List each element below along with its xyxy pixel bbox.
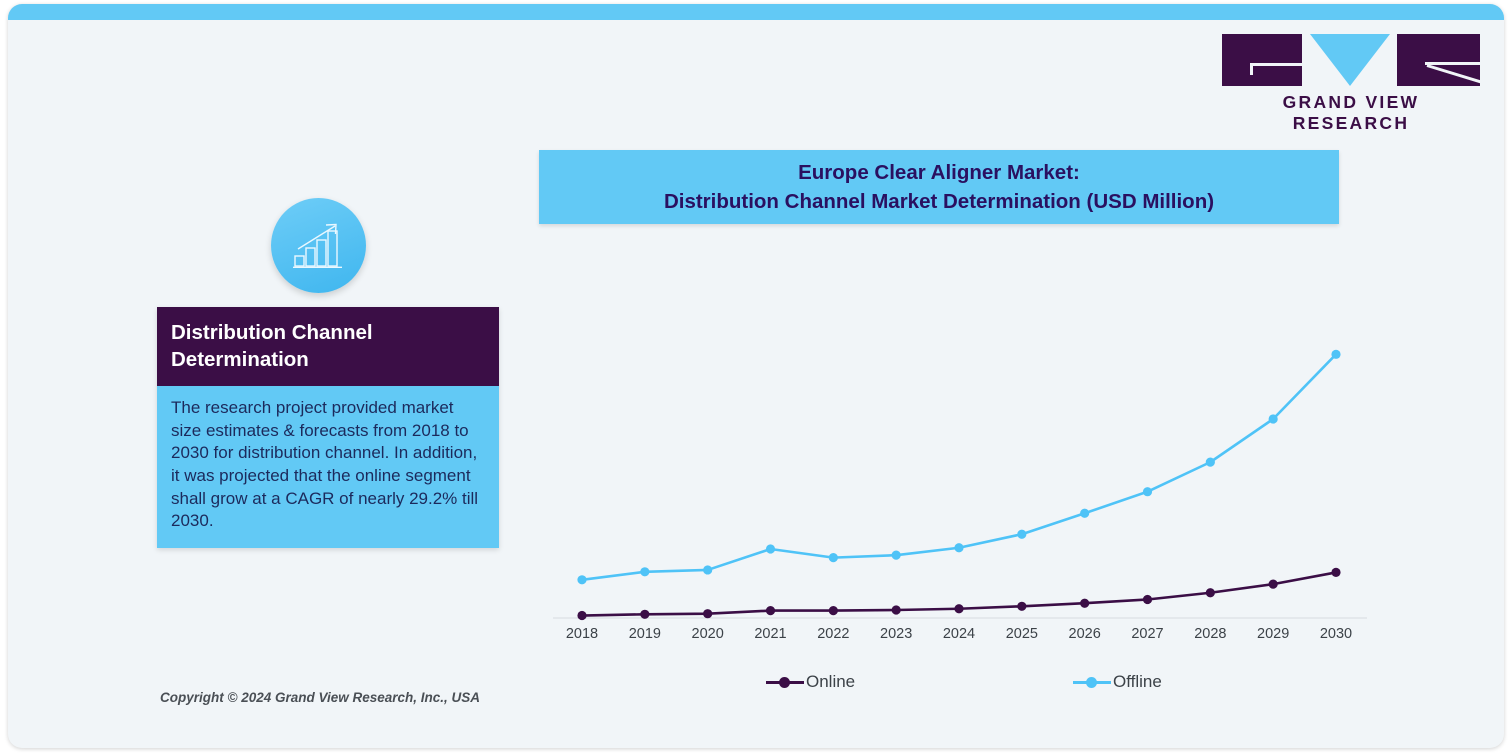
bar-chart-growth-icon [271,198,366,293]
data-point[interactable] [640,610,649,619]
chart-title-banner: Europe Clear Aligner Market: Distributio… [539,150,1339,224]
x-tick-2029: 2029 [1257,626,1289,642]
x-tick-2027: 2027 [1131,626,1163,642]
data-point[interactable] [1017,530,1026,539]
legend-label: Offline [1113,672,1162,692]
data-point[interactable] [766,544,775,553]
x-axis-tick-labels: 2018201920202021202220232024202520262027… [539,626,1379,650]
series-online [577,568,1340,620]
data-point[interactable] [1080,509,1089,518]
brand-logo: GRAND VIEW RESEARCH [1222,34,1480,119]
chart-legend: OnlineOffline [539,672,1379,700]
report-canvas: GRAND VIEW RESEARCH Distribution Channel… [8,4,1504,748]
x-tick-2019: 2019 [629,626,661,642]
x-tick-2028: 2028 [1194,626,1226,642]
x-tick-2024: 2024 [943,626,975,642]
data-point[interactable] [1080,599,1089,608]
x-tick-2022: 2022 [817,626,849,642]
data-point[interactable] [1269,414,1278,423]
data-point[interactable] [640,567,649,576]
x-tick-2030: 2030 [1320,626,1352,642]
legend-swatch-icon [766,675,804,689]
data-point[interactable] [1206,458,1215,467]
data-point[interactable] [577,611,586,620]
copyright-notice: Copyright © 2024 Grand View Research, In… [160,690,480,705]
x-tick-2018: 2018 [566,626,598,642]
logo-v-triangle-icon [1310,34,1390,86]
legend-item-offline[interactable]: Offline [1073,672,1162,692]
data-point[interactable] [1206,588,1215,597]
data-point[interactable] [892,605,901,614]
data-point[interactable] [766,606,775,615]
data-point[interactable] [1143,595,1152,604]
data-point[interactable] [1331,350,1340,359]
gvr-logo-icon [1222,34,1480,86]
logo-g-mark [1222,34,1302,86]
screenshot-root: GRAND VIEW RESEARCH Distribution Channel… [0,0,1510,756]
x-tick-2021: 2021 [754,626,786,642]
data-point[interactable] [1331,568,1340,577]
data-point[interactable] [829,606,838,615]
card-title: Distribution Channel Determination [157,307,499,386]
data-point[interactable] [954,604,963,613]
card-description: The research project provided market siz… [157,386,499,548]
data-point[interactable] [954,543,963,552]
data-point[interactable] [1269,580,1278,589]
x-tick-2026: 2026 [1069,626,1101,642]
brand-name: GRAND VIEW RESEARCH [1222,92,1480,134]
data-point[interactable] [703,565,712,574]
x-tick-2023: 2023 [880,626,912,642]
series-offline [577,350,1340,585]
legend-item-online[interactable]: Online [766,672,855,692]
x-tick-2025: 2025 [1006,626,1038,642]
distribution-channel-card: Distribution Channel Determination The r… [157,307,499,548]
data-point[interactable] [1017,602,1026,611]
data-point[interactable] [577,575,586,584]
legend-swatch-icon [1073,675,1111,689]
chart-title-line-2: Distribution Channel Market Determinatio… [664,187,1214,216]
data-point[interactable] [703,609,712,618]
x-tick-2020: 2020 [692,626,724,642]
data-point[interactable] [829,553,838,562]
top-accent-bar [8,4,1504,20]
data-point[interactable] [892,551,901,560]
data-point[interactable] [1143,487,1152,496]
logo-r-mark [1397,34,1480,86]
line-chart-plot-area [539,239,1379,624]
chart-title-line-1: Europe Clear Aligner Market: [798,158,1080,187]
legend-label: Online [806,672,855,692]
chart-svg [539,239,1379,624]
